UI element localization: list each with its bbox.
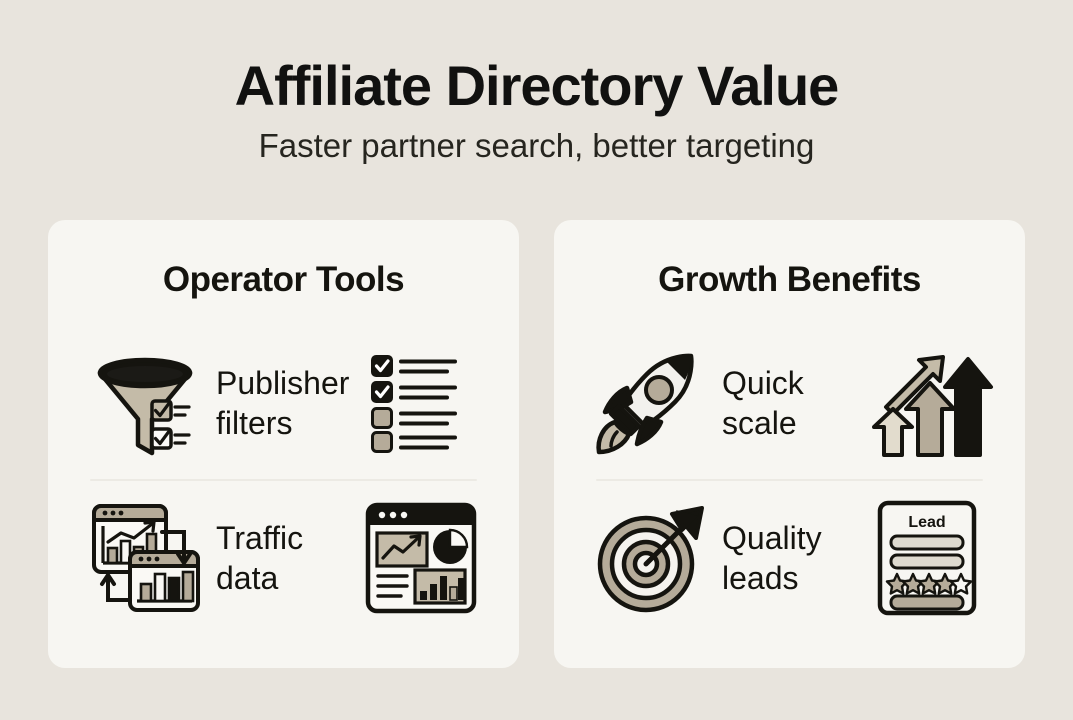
card-operator-tools: Operator Tools — [48, 220, 519, 668]
row-label-traffic-data: Traffic data — [212, 518, 353, 598]
infographic-page: Affiliate Directory Value Faster partner… — [0, 0, 1073, 720]
growth-arrows-icon — [867, 347, 987, 459]
funnel-checklist-icon — [86, 349, 204, 457]
star-rating — [887, 574, 971, 594]
row-label-line1: Publisher — [216, 363, 353, 403]
rocket-icon — [592, 348, 710, 458]
row-quality-leads: Quality leads Lead — [592, 481, 987, 634]
row-label-line2: scale — [722, 403, 859, 443]
row-label-publisher-filters: Publisher filters — [212, 363, 353, 443]
lead-card-label: Lead — [908, 514, 945, 531]
row-quick-scale: Quick scale — [592, 326, 987, 479]
card-rows-growth-benefits: Quick scale — [592, 326, 987, 634]
row-publisher-filters: Publisher filters — [86, 326, 481, 479]
lead-card-icon: Lead — [867, 500, 987, 616]
card-title-growth-benefits: Growth Benefits — [592, 260, 987, 300]
row-label-quick-scale: Quick scale — [718, 363, 859, 443]
analytics-dashboard-icon — [361, 502, 481, 614]
row-label-quality-leads: Quality leads — [718, 518, 859, 598]
row-label-line1: Quality — [722, 518, 859, 558]
cards-container: Operator Tools — [48, 220, 1025, 668]
row-traffic-data: Traffic data — [86, 481, 481, 634]
dual-window-charts-icon — [86, 500, 204, 615]
row-label-line1: Traffic — [216, 518, 353, 558]
card-title-operator-tools: Operator Tools — [86, 260, 481, 300]
page-title: Affiliate Directory Value — [0, 58, 1073, 114]
card-rows-operator-tools: Publisher filters — [86, 326, 481, 634]
row-label-line2: data — [216, 558, 353, 598]
checklist-icon — [361, 353, 481, 453]
header: Affiliate Directory Value Faster partner… — [0, 0, 1073, 164]
row-label-line2: filters — [216, 403, 353, 443]
row-label-line1: Quick — [722, 363, 859, 403]
target-arrow-icon — [592, 502, 710, 614]
page-subtitle: Faster partner search, better targeting — [0, 128, 1073, 164]
row-label-line2: leads — [722, 558, 859, 598]
card-growth-benefits: Growth Benefits — [554, 220, 1025, 668]
